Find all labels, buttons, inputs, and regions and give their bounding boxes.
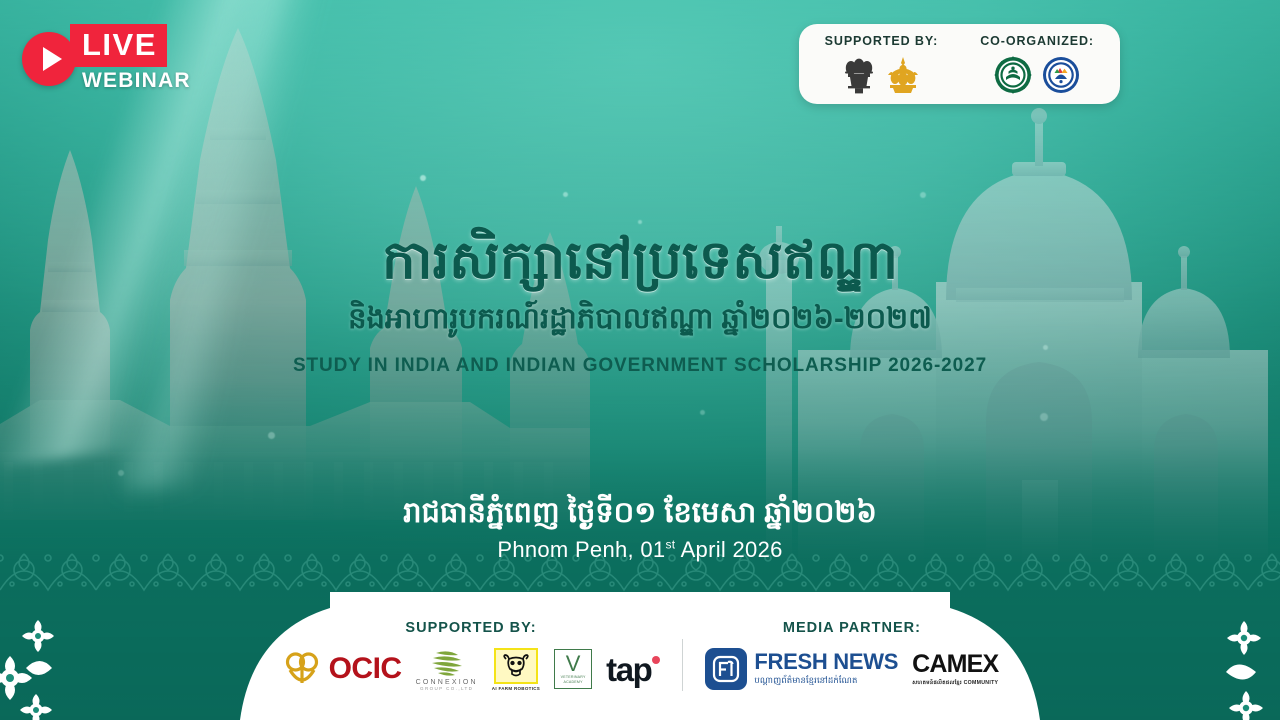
event-date-english: Phnom Penh, 01st April 2026 bbox=[0, 537, 1280, 563]
co-organized-group: CO-ORGANIZED: bbox=[980, 34, 1094, 96]
ocic-mark-icon bbox=[282, 650, 322, 688]
bokeh-dot bbox=[420, 175, 426, 181]
fresh-news-mark-icon bbox=[705, 648, 747, 690]
fresh-news-label: FRESH NEWS bbox=[754, 651, 898, 673]
tap-dot-icon bbox=[652, 656, 660, 664]
live-webinar-badge[interactable]: LIVE WEBINAR bbox=[22, 24, 191, 93]
ai-farm-label: AI FARM ROBOTICS bbox=[492, 686, 540, 691]
co-organized-heading: CO-ORGANIZED: bbox=[980, 34, 1094, 48]
bokeh-dot bbox=[268, 432, 275, 439]
play-icon[interactable] bbox=[22, 32, 76, 86]
live-label: LIVE bbox=[70, 24, 167, 67]
connexion-mark-icon bbox=[430, 647, 464, 677]
supported-by-heading: SUPPORTED BY: bbox=[825, 34, 939, 48]
supporters-badge: SUPPORTED BY: bbox=[799, 24, 1120, 104]
sponsor-supported-group: SUPPORTED BY: OCIC bbox=[282, 620, 661, 692]
india-state-emblem-icon bbox=[842, 55, 876, 95]
bokeh-dot bbox=[700, 410, 705, 415]
bokeh-dot bbox=[1040, 413, 1048, 421]
fresh-news-sublabel: បណ្តាញព័ត៌មានខ្មែរនៅដក់ណែត bbox=[754, 675, 898, 688]
date-block: រាជធានីភ្នំពេញ ថ្ងៃទី០១ ខែមេសា ឆ្នាំ២០២៦… bbox=[0, 495, 1280, 563]
tap-label: tap bbox=[606, 653, 651, 686]
connexion-sublabel: GROUP CO.,LTD bbox=[420, 686, 473, 691]
sponsor-bar: SUPPORTED BY: OCIC bbox=[0, 592, 1280, 720]
sponsor-divider bbox=[682, 639, 683, 691]
ocic-logo[interactable]: OCIC bbox=[282, 650, 402, 688]
bokeh-dot bbox=[118, 470, 124, 476]
event-date-khmer: រាជធានីភ្នំពេញ ថ្ងៃទី០១ ខែមេសា ឆ្នាំ២០២៦ bbox=[0, 495, 1280, 531]
blue-circular-seal-icon bbox=[1042, 56, 1080, 94]
ocic-label: OCIC bbox=[329, 652, 402, 686]
camex-label: CAMEX bbox=[912, 652, 998, 677]
bokeh-dot bbox=[638, 220, 642, 224]
media-partner-heading: MEDIA PARTNER: bbox=[783, 620, 921, 636]
ordinal-suffix: st bbox=[665, 538, 675, 552]
karnataka-state-emblem-icon bbox=[886, 55, 920, 95]
page-title-khmer: ការសិក្សានៅប្រទេសឥណ្ឌា bbox=[0, 230, 1280, 293]
supported-by-group: SUPPORTED BY: bbox=[825, 34, 939, 96]
camex-logo[interactable]: CAMEX សហគមន៍ផលិតផលខ្មែរ COMMUNITY bbox=[912, 652, 998, 687]
bokeh-dot bbox=[563, 192, 568, 197]
event-city: Phnom Penh, 01 bbox=[497, 537, 665, 562]
title-block: ការសិក្សានៅប្រទេសឥណ្ឌា និងអាហារូបករណ៍រដ្… bbox=[0, 230, 1280, 377]
page-subtitle-khmer: និងអាហារូបករណ៍រដ្ឋាភិបាលឥណ្ឌា ឆ្នាំ២០២៦-… bbox=[0, 301, 1280, 343]
tap-logo[interactable]: tap bbox=[606, 653, 660, 686]
page-subtitle-english: STUDY IN INDIA AND INDIAN GOVERNMENT SCH… bbox=[0, 355, 1280, 377]
sponsor-bar-content: SUPPORTED BY: OCIC bbox=[0, 592, 1280, 720]
sponsor-media-group: MEDIA PARTNER: bbox=[705, 620, 998, 692]
sponsor-supported-heading: SUPPORTED BY: bbox=[405, 620, 536, 636]
event-month-year: April 2026 bbox=[675, 537, 782, 562]
webinar-poster: LIVE WEBINAR SUPPORTED BY: bbox=[0, 0, 1280, 720]
connexion-label: CONNEXION bbox=[416, 679, 478, 686]
ai-farm-robotics-logo[interactable]: AI FARM ROBOTICS bbox=[492, 648, 540, 691]
green-circular-seal-icon bbox=[994, 56, 1032, 94]
ai-farm-cow-icon bbox=[494, 648, 538, 684]
v-academy-letter: V bbox=[566, 654, 581, 674]
bokeh-dot bbox=[920, 192, 926, 198]
connexion-logo[interactable]: CONNEXION GROUP CO.,LTD bbox=[416, 647, 478, 691]
v-academy-logo[interactable]: V VETERINARY ACADEMY bbox=[554, 649, 592, 689]
webinar-label: WEBINAR bbox=[82, 69, 191, 93]
v-academy-label: VETERINARY ACADEMY bbox=[555, 675, 591, 684]
fresh-news-logo[interactable]: FRESH NEWS បណ្តាញព័ត៌មានខ្មែរនៅដក់ណែត bbox=[705, 648, 898, 690]
camex-sublabel: សហគមន៍ផលិតផលខ្មែរ COMMUNITY bbox=[912, 679, 998, 687]
